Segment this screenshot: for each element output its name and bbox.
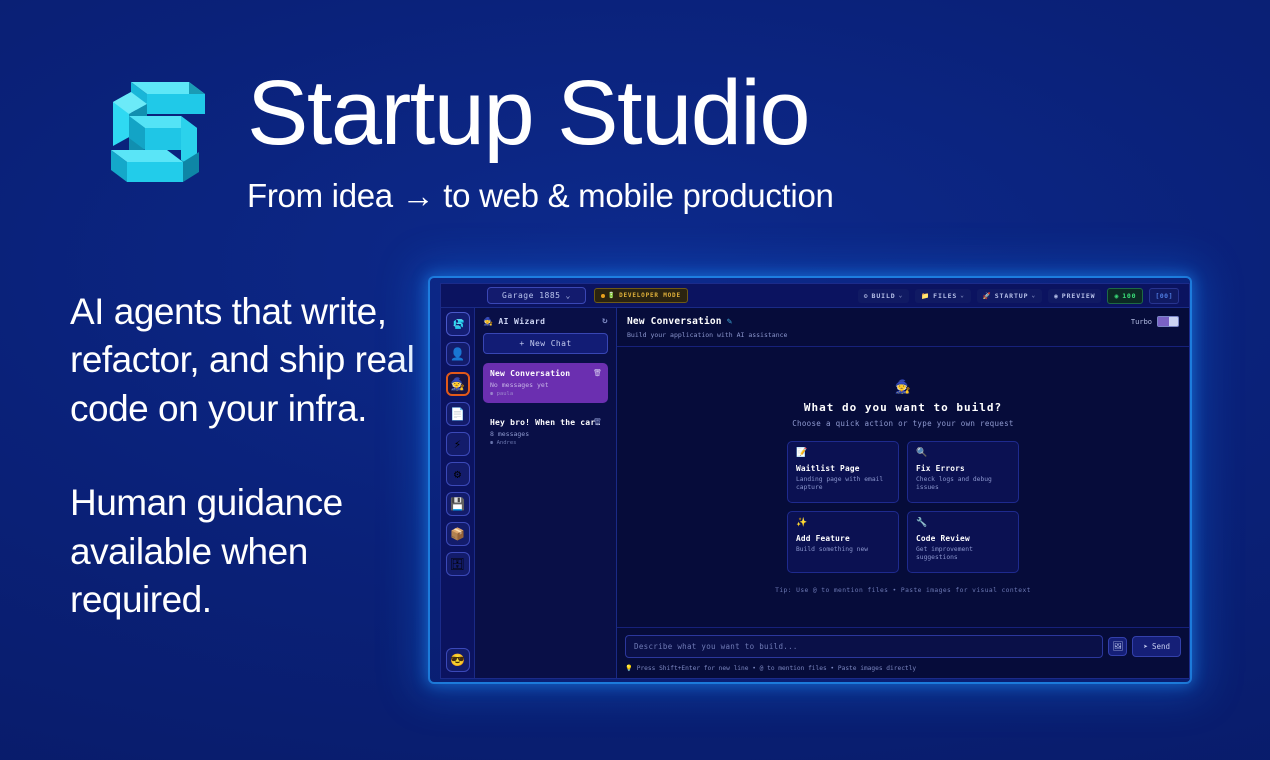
preview-label: PREVIEW <box>1062 292 1096 300</box>
app-topbar: Garage 1885 ⌄ 🔋 DEVELOPER MODE ⚙ BUILD ⌄… <box>441 284 1189 308</box>
quick-action-title: Add Feature <box>796 534 890 543</box>
icon-rail: 👤 🧙 📄 ⚡ ⚙ 💾 📦 🗄 <box>441 308 475 678</box>
quick-action-title: Fix Errors <box>916 464 1010 473</box>
message-input[interactable]: Describe what you want to build... <box>625 635 1103 658</box>
copy-paragraph-2: Human guidance available when required. <box>70 479 420 624</box>
chat-sidebar: 🧙 AI Wizard ↻ + New Chat New Conversatio… <box>475 308 617 678</box>
rail-item-packages[interactable]: 📦 <box>446 522 470 546</box>
isometric-s-logo-icon <box>85 58 215 198</box>
delete-icon[interactable]: 🗑 <box>593 369 602 377</box>
pencil-icon[interactable]: ✎ <box>727 317 733 327</box>
database-icon: 🗄 <box>450 558 465 570</box>
conversation-header-text: New Conversation ✎ Build your applicatio… <box>627 316 787 339</box>
build-menu-button[interactable]: ⚙ BUILD ⌄ <box>858 289 909 303</box>
code-review-icon: 🔧 <box>916 519 1010 528</box>
app-body: 👤 🧙 📄 ⚡ ⚙ 💾 📦 🗄 <box>441 308 1189 678</box>
delete-icon[interactable]: 🗑 <box>593 418 602 426</box>
quick-action-desc: Get improvement suggestions <box>916 546 1010 563</box>
chat-item-meta: No messages yet <box>490 381 601 389</box>
chevron-down-icon: ⌄ <box>960 292 965 299</box>
app-screenshot: Garage 1885 ⌄ 🔋 DEVELOPER MODE ⚙ BUILD ⌄… <box>440 283 1190 679</box>
conversation-title-row: New Conversation ✎ <box>627 316 787 327</box>
quick-action-card[interactable]: 🔧 Code Review Get improvement suggestion… <box>907 511 1019 573</box>
avatar-icon: 😎 <box>450 654 465 666</box>
chat-list-item[interactable]: New Conversation No messages yet ⚉ paula… <box>483 363 608 403</box>
quick-action-desc: Landing page with email capture <box>796 476 890 493</box>
empty-state-heading: What do you want to build? <box>804 401 1002 414</box>
composer-row: Describe what you want to build... 🖼 ➤ S… <box>625 635 1181 658</box>
startup-label: STARTUP <box>995 292 1029 300</box>
page-title: Startup Studio <box>247 70 834 157</box>
chat-item-title: Hey bro! When the car… <box>490 418 601 427</box>
rocket-icon: 🚀 <box>983 292 992 300</box>
developer-mode-badge[interactable]: 🔋 DEVELOPER MODE <box>594 288 688 303</box>
attach-image-button[interactable]: 🖼 <box>1108 637 1127 656</box>
new-chat-button[interactable]: + New Chat <box>483 333 608 354</box>
marketing-copy: AI agents that write, refactor, and ship… <box>70 288 420 625</box>
gear-icon: ⚙ <box>454 468 461 480</box>
rail-item-actions[interactable]: ⚡ <box>446 432 470 456</box>
quick-action-card[interactable]: ✨ Add Feature Build something new <box>787 511 899 573</box>
startup-menu-button[interactable]: 🚀 STARTUP ⌄ <box>977 289 1042 303</box>
chevron-down-icon: ⌄ <box>565 291 570 300</box>
chat-sidebar-title: AI Wizard <box>498 317 545 326</box>
hero-header: Startup Studio From idea → to web & mobi… <box>85 58 834 215</box>
credits-badge[interactable]: ◉ 100 <box>1107 288 1143 304</box>
empty-state: 🧙 What do you want to build? Choose a qu… <box>617 347 1189 627</box>
person-icon: 👤 <box>450 348 465 360</box>
quick-action-title: Code Review <box>916 534 1010 543</box>
status-badge[interactable]: [00] <box>1149 288 1179 304</box>
wizard-icon: 🧙 <box>895 381 911 394</box>
topbar-right: ⚙ BUILD ⌄ 📁 FILES ⌄ 🚀 STARTUP ⌄ ◉ PREVIE… <box>858 288 1183 304</box>
rail-item-settings[interactable]: ⚙ <box>446 462 470 486</box>
floppy-disk-icon: 💾 <box>450 498 465 510</box>
quick-action-card[interactable]: 🔍 Fix Errors Check logs and debug issues <box>907 441 1019 503</box>
startup-studio-logo <box>85 58 215 198</box>
rail-item-avatar[interactable]: 😎 <box>446 648 470 672</box>
send-button[interactable]: ➤ Send <box>1132 636 1181 657</box>
rail-item-logo[interactable] <box>446 312 470 336</box>
gear-icon: ⚙ <box>864 292 869 300</box>
credits-value: 100 <box>1122 292 1136 300</box>
quick-action-title: Waitlist Page <box>796 464 890 473</box>
isometric-s-logo-icon <box>451 317 465 331</box>
workspace-selector[interactable]: Garage 1885 ⌄ <box>487 287 586 304</box>
wizard-icon: 🧙 <box>450 378 465 390</box>
chevron-down-icon: ⌄ <box>899 292 904 299</box>
files-label: FILES <box>933 292 957 300</box>
chevron-down-icon: ⌄ <box>1031 292 1036 299</box>
chat-item-user: ⚉ Andres <box>490 440 601 446</box>
quick-action-desc: Build something new <box>796 546 890 555</box>
turbo-label: Turbo <box>1131 318 1152 326</box>
waitlist-page-icon: 📝 <box>796 449 890 458</box>
lightning-icon: ⚡ <box>454 438 461 450</box>
page-subtitle: From idea → to web & mobile production <box>247 177 834 215</box>
quick-action-card[interactable]: 📝 Waitlist Page Landing page with email … <box>787 441 899 503</box>
turbo-toggle[interactable]: Turbo <box>1131 316 1179 327</box>
add-feature-icon: ✨ <box>796 519 890 528</box>
topbar-left: Garage 1885 ⌄ 🔋 DEVELOPER MODE <box>487 287 688 304</box>
chat-item-title: New Conversation <box>490 369 601 378</box>
developer-mode-label: DEVELOPER MODE <box>619 292 681 299</box>
quick-action-desc: Check logs and debug issues <box>916 476 1010 493</box>
image-icon: 🖼 <box>1112 642 1123 652</box>
build-label: BUILD <box>872 292 896 300</box>
rail-item-profile[interactable]: 👤 <box>446 342 470 366</box>
chat-list-item[interactable]: Hey bro! When the car… 8 messages ⚉ Andr… <box>483 412 608 452</box>
coin-icon: ◉ <box>1114 292 1119 300</box>
message-composer: Describe what you want to build... 🖼 ➤ S… <box>617 627 1189 678</box>
send-label: Send <box>1152 642 1170 651</box>
battery-icon: 🔋 <box>608 292 616 299</box>
conversation-panel: New Conversation ✎ Build your applicatio… <box>617 308 1189 678</box>
copy-spacer <box>70 433 420 479</box>
rail-item-files[interactable]: 📄 <box>446 402 470 426</box>
quick-action-grid: 📝 Waitlist Page Landing page with email … <box>787 441 1019 573</box>
conversation-title: New Conversation <box>627 316 722 327</box>
turbo-switch[interactable] <box>1157 316 1179 327</box>
conversation-subtitle: Build your application with AI assistanc… <box>627 331 787 339</box>
send-icon: ➤ <box>1143 642 1148 651</box>
eye-icon: ◉ <box>1054 292 1059 300</box>
folder-icon: 📁 <box>921 292 930 300</box>
document-icon: 📄 <box>450 408 465 420</box>
preview-button[interactable]: ◉ PREVIEW <box>1048 289 1102 303</box>
lightbulb-icon: 💡 <box>625 664 633 672</box>
usage-tip: Tip: Use @ to mention files • Paste imag… <box>775 587 1031 594</box>
rail-item-database[interactable]: 🗄 <box>446 552 470 576</box>
chat-item-meta: 8 messages <box>490 430 601 438</box>
fix-errors-icon: 🔍 <box>916 449 1010 458</box>
workspace-label: Garage 1885 <box>502 291 560 300</box>
rail-item-ai-wizard[interactable]: 🧙 <box>446 372 470 396</box>
chat-item-user: ⚉ paula <box>490 391 601 397</box>
composer-hint: 💡 Press Shift+Enter for new line • @ to … <box>625 664 1181 672</box>
empty-state-subheading: Choose a quick action or type your own r… <box>792 419 1014 428</box>
composer-hint-text: Press Shift+Enter for new line • @ to me… <box>637 665 916 672</box>
copy-paragraph-1: AI agents that write, refactor, and ship… <box>70 288 420 433</box>
package-icon: 📦 <box>450 528 465 540</box>
conversation-header: New Conversation ✎ Build your applicatio… <box>617 308 1189 347</box>
wizard-icon: 🧙 <box>483 317 493 326</box>
chat-sidebar-header: 🧙 AI Wizard ↻ <box>475 308 616 326</box>
refresh-icon[interactable]: ↻ <box>602 316 608 326</box>
files-menu-button[interactable]: 📁 FILES ⌄ <box>915 289 971 303</box>
rail-item-save[interactable]: 💾 <box>446 492 470 516</box>
status-dot-icon <box>601 294 605 298</box>
